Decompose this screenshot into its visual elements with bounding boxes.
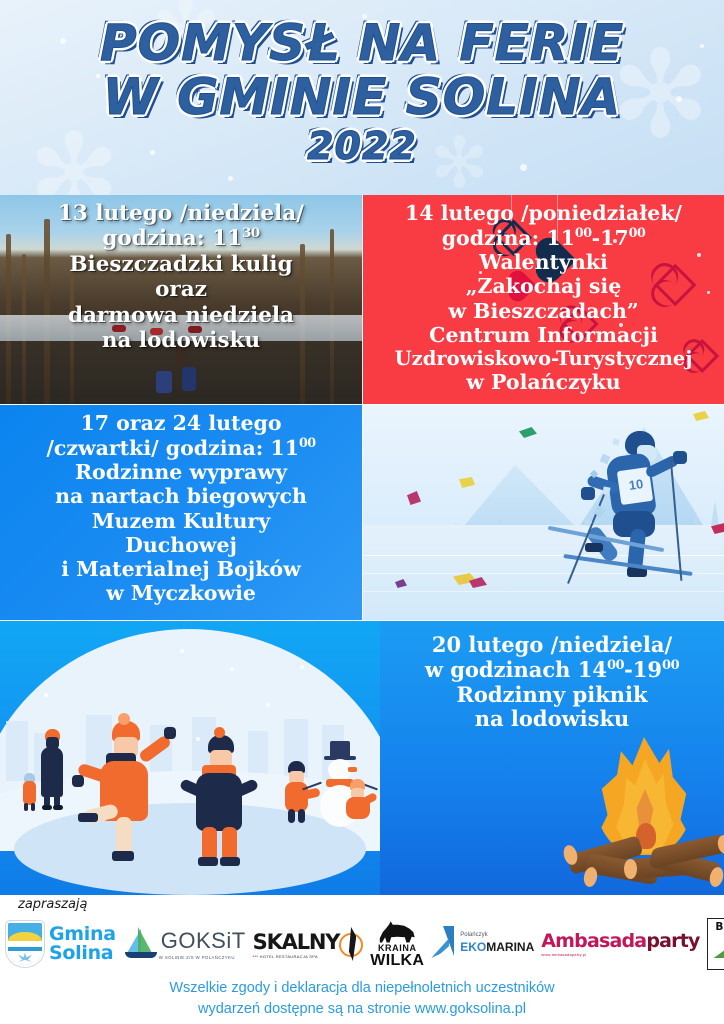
footer-line-2: wydarzeń dostępne są na stronie www.goks… [0, 999, 724, 1020]
leg [222, 827, 237, 861]
panel-5-skating-illustration [0, 621, 380, 895]
title-year: 2022 [0, 124, 724, 168]
panel-1-kulig: 13 lutego /niedziela/ godzina: 1130 Bies… [0, 195, 362, 404]
logo-bieszczader[interactable]: BIESZCZADER BIURO PODRÓŻY www.bieszczade… [707, 917, 724, 971]
bieszczader-subtitle: BIURO PODRÓŻY [708, 933, 724, 938]
sailboat-icon [123, 926, 159, 962]
event-2-line-5: w Bieszczadach” [363, 299, 724, 323]
skalny-mark-icon [339, 927, 363, 961]
skalny-subtext: *** HOTEL RESTAURACJA SPA [253, 954, 340, 959]
panel-3-text: 17 oraz 24 lutego /czwartki/ godzina: 11… [0, 405, 362, 605]
sponsor-logos: Gmina Solina GOKSiT W SOLINIE Z/S W POLA… [6, 914, 718, 974]
event-3-line-4: na nartach biegowych [0, 484, 362, 508]
glove [164, 727, 176, 739]
ski-pole [670, 457, 683, 581]
title-line-2: W GMINIE SOLINA [0, 68, 724, 126]
logo-skalny[interactable]: SKALNY *** HOTEL RESTAURACJA SPA [253, 917, 364, 971]
snow-dot [228, 176, 233, 181]
ekomarina-text: EKOMARINA [460, 940, 534, 954]
sled [156, 371, 172, 393]
event-1-line-6: na lodowisku [0, 328, 362, 353]
person-child-orange [282, 761, 312, 827]
event-2-line-7: Uzdrowiskowo-Turystycznej [363, 347, 724, 370]
bieszczader-box-icon: BIESZCZADER BIURO PODRÓŻY www.bieszczade… [707, 918, 724, 970]
poster-title: POMYSŁ NA FERIE W GMINIE SOLINA 2022 [0, 0, 724, 168]
event-3-line-8: w Myczkowie [0, 581, 362, 605]
skalny-wordmark: SKALNY *** HOTEL RESTAURACJA SPA [253, 930, 340, 959]
snow-dot [266, 703, 270, 707]
poster-header: ✻ ✻ ✻ ✻ POMYSŁ NA FERIE W GMINIE SOLINA … [0, 0, 724, 195]
confetti [519, 427, 537, 438]
shatter-particle [602, 486, 610, 494]
gmina-solina-line2: Solina [49, 942, 113, 964]
event-1-line-4: oraz [0, 277, 362, 302]
boot [53, 805, 63, 810]
event-3-line-6: Duchowej [0, 533, 362, 557]
confetti [693, 411, 709, 421]
person-skater-blue [186, 735, 264, 877]
boot [42, 805, 52, 810]
panel-3-narty: 17 oraz 24 lutego /czwartki/ godzina: 11… [0, 405, 362, 620]
sponsor-bar: zapraszają Gmina Solina GOKSiT [0, 895, 724, 978]
event-3-line-3: Rodzinne wyprawy [0, 460, 362, 484]
shatter-particle [613, 439, 620, 446]
coat [41, 747, 63, 797]
ekomarina-wordmark: Polańczyk EKOMARINA [460, 932, 534, 956]
logo-gmina-solina[interactable]: Gmina Solina [6, 917, 116, 971]
goksit-subtext: W SOLINIE Z/S W POLAŃCZYKU [159, 955, 246, 960]
panel-6-piknik: 20 lutego /niedziela/ w godzinach 1400-1… [380, 621, 724, 895]
confetti [459, 477, 475, 488]
sled [182, 367, 196, 391]
goksit-wordmark: GOKSiT W SOLINIE Z/S W POLAŃCZYKU [159, 928, 246, 960]
glove [72, 775, 84, 787]
leg [202, 827, 217, 861]
snow-dot [230, 667, 234, 671]
skier-glove [581, 487, 595, 500]
event-3-line-2: /czwartki/ godzina: 1100 [0, 435, 362, 460]
mountains-icon [714, 940, 724, 958]
event-3-time-sup: 00 [299, 435, 316, 450]
snow-dot [180, 649, 184, 653]
person-adult-dark [40, 729, 64, 813]
title-line-1: POMYSŁ NA FERIE [0, 14, 724, 72]
snow-dot [300, 665, 304, 669]
leg [24, 803, 28, 811]
event-2-time-sup-1: 00 [575, 225, 592, 240]
event-2-line-4: „Zakochaj się [363, 274, 724, 298]
gmina-solina-wordmark: Gmina Solina [49, 925, 116, 964]
event-1-line-5: darmowa niedziela [0, 303, 362, 328]
skier-glove [673, 451, 687, 464]
poster: ✻ ✻ ✻ ✻ POMYSŁ NA FERIE W GMINIE SOLINA … [0, 0, 724, 1024]
skalny-text: SKALNY [253, 930, 340, 954]
event-2-line-1: 14 lutego /poniedziałek/ [363, 201, 724, 225]
panel-1-text: 13 lutego /niedziela/ godzina: 1130 Bies… [0, 195, 362, 353]
person-child-kneeling [344, 779, 378, 827]
ambasada-wordmark: Ambasadaparty www.ambasadaparty.pl [541, 932, 699, 957]
log-end [624, 859, 637, 879]
building [6, 721, 28, 781]
confetti [407, 491, 421, 505]
leg [31, 803, 35, 811]
ambasada-url: www.ambasadaparty.pl [541, 952, 699, 957]
footer-line-1: Wszelkie zgody i deklaracja dla niepełno… [0, 978, 724, 999]
leg [298, 809, 305, 823]
ekomarina-top: Polańczyk [460, 932, 534, 938]
ambasada-text: Ambasadaparty [541, 930, 699, 952]
leg [116, 817, 132, 855]
kraina-wilka-wordmark: KRAINA WILKA [370, 944, 424, 969]
sponsors-intro: zapraszają [18, 897, 88, 912]
bieszczader-title: BIESZCZADER [708, 921, 724, 933]
bonfire [562, 737, 724, 895]
logo-kraina-wilka[interactable]: KRAINA WILKA [370, 917, 424, 971]
event-4-line-1: 20 lutego /niedziela/ [380, 633, 724, 658]
event-1-time-sup: 30 [242, 225, 260, 241]
event-panels: 13 lutego /niedziela/ godzina: 1130 Bies… [0, 195, 724, 895]
skier-boot [585, 543, 603, 552]
logo-ekomarina[interactable]: Polańczyk EKOMARINA [431, 917, 534, 971]
pom-pom [118, 713, 130, 725]
person-skater-orange [82, 721, 178, 873]
coat [23, 781, 36, 805]
footer-note: Wszelkie zgody i deklaracja dla niepełno… [0, 978, 724, 1024]
kraina-wilka-line2: WILKA [370, 953, 424, 969]
event-1-line-2: godzina: 1130 [0, 226, 362, 252]
event-3-line-7: i Materialnej Bojków [0, 557, 362, 581]
panel-2-walentynki: 14 lutego /poniedziałek/ godzina: 1100-1… [363, 195, 724, 404]
gmina-solina-crest-icon [6, 921, 44, 967]
skate [112, 851, 134, 861]
skate [220, 857, 240, 866]
snow-dot [44, 693, 48, 697]
skate [198, 857, 218, 866]
event-2-line-8: w Polańczyku [363, 370, 724, 394]
person-toddler [22, 773, 38, 817]
event-1-line-3: Bieszczadzki kulig [0, 252, 362, 277]
event-4-line-4: na lodowisku [380, 707, 724, 732]
snowman-nose [348, 767, 357, 772]
panel-6-text: 20 lutego /niedziela/ w godzinach 1400-1… [380, 621, 724, 732]
ekomarina-sail-icon [431, 926, 457, 962]
panel-4-skier-illustration: 10 [363, 405, 724, 620]
event-2-line-3: Walentynki [363, 250, 724, 274]
event-2-line-6: Centrum Informacji [363, 323, 724, 347]
logo-ambasada-party[interactable]: Ambasadaparty www.ambasadaparty.pl [541, 917, 699, 971]
leg [288, 809, 295, 823]
event-2-line-2: godzina: 1100-1700 [363, 225, 724, 250]
event-1-line-1: 13 lutego /niedziela/ [0, 201, 362, 226]
panel-2-text: 14 lutego /poniedziałek/ godzina: 1100-1… [363, 195, 724, 394]
wolf-icon [378, 920, 416, 944]
event-2-time-sup-2: 00 [629, 225, 646, 240]
event-4-line-2: w godzinach 1400-1900 [380, 658, 724, 683]
event-4-time-sup-1: 00 [607, 658, 624, 673]
goksit-text: GOKSiT [161, 928, 246, 953]
event-4-line-3: Rodzinny piknik [380, 683, 724, 708]
event-3-line-5: Muzem Kultury [0, 509, 362, 533]
coat [196, 773, 242, 831]
skier-figure: 10 [573, 425, 693, 605]
event-3-line-1: 17 oraz 24 lutego [0, 411, 362, 435]
pom-pom [214, 727, 225, 738]
skate [78, 813, 98, 822]
event-4-time-sup-2: 00 [662, 658, 679, 673]
bieszczader-url: www.bieszczader.pl [708, 959, 724, 968]
logo-goksit[interactable]: GOKSiT W SOLINIE Z/S W POLAŃCZYKU [123, 917, 246, 971]
